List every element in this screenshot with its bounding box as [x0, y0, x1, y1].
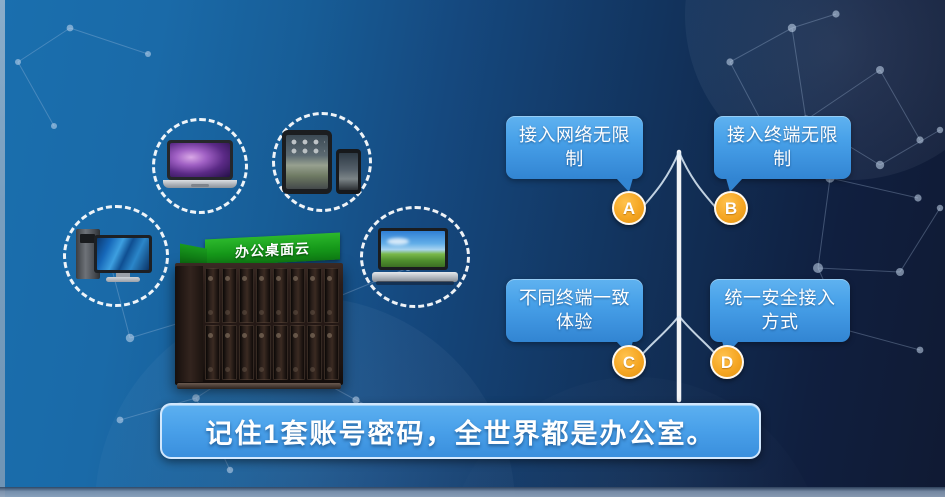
- callout-bubble-b[interactable]: 接入终端无限制: [714, 116, 851, 179]
- callout-badge-b[interactable]: B: [714, 191, 748, 225]
- callout-badge-d[interactable]: D: [710, 345, 744, 379]
- callout-bubble-a[interactable]: 接入网络无限制: [506, 116, 643, 179]
- device-circle-monitor: [360, 206, 470, 308]
- callout-text-c: 不同终端一致体验: [506, 287, 643, 335]
- device-circle-desktop-pc: [63, 205, 169, 307]
- bottom-border-strip: [0, 487, 945, 497]
- callout-badge-letter-c: C: [623, 354, 635, 371]
- bottom-banner-text: 记住1套账号密码，全世界都是办公室。: [205, 412, 715, 451]
- server-blades: [205, 268, 339, 380]
- callout-bubble-c[interactable]: 不同终端一致体验: [506, 279, 643, 342]
- device-circle-laptop: [152, 118, 248, 214]
- callout-badge-a[interactable]: A: [612, 191, 646, 225]
- device-circle-tablet-phone: [272, 112, 372, 212]
- server-label-banner: 办公桌面云: [205, 232, 340, 266]
- callout-text-a: 接入网络无限制: [506, 124, 643, 172]
- tablet-phone-icon: [282, 130, 362, 194]
- server-rack: 办公桌面云: [170, 236, 370, 396]
- callout-badge-letter-b: B: [725, 200, 737, 217]
- callout-text-b: 接入终端无限制: [714, 124, 851, 172]
- callout-badge-c[interactable]: C: [612, 345, 646, 379]
- server-chassis: [175, 263, 343, 385]
- left-border-strip: [0, 0, 5, 497]
- server-label-text: 办公桌面云: [235, 238, 310, 262]
- bottom-banner[interactable]: 记住1套账号密码，全世界都是办公室。: [160, 403, 761, 459]
- callout-badge-letter-a: A: [623, 200, 635, 217]
- callout-text-d: 统一安全接入方式: [710, 287, 850, 335]
- laptop-icon: [163, 140, 237, 192]
- callout-badge-letter-d: D: [721, 354, 733, 371]
- slide-canvas: 办公桌面云 接入网络无限制 A 接入终端无限制 B 不同终端一致体验: [0, 0, 945, 497]
- callout-bubble-d[interactable]: 统一安全接入方式: [710, 279, 850, 342]
- monitor-icon: [372, 228, 458, 286]
- desktop-pc-icon: [74, 227, 158, 285]
